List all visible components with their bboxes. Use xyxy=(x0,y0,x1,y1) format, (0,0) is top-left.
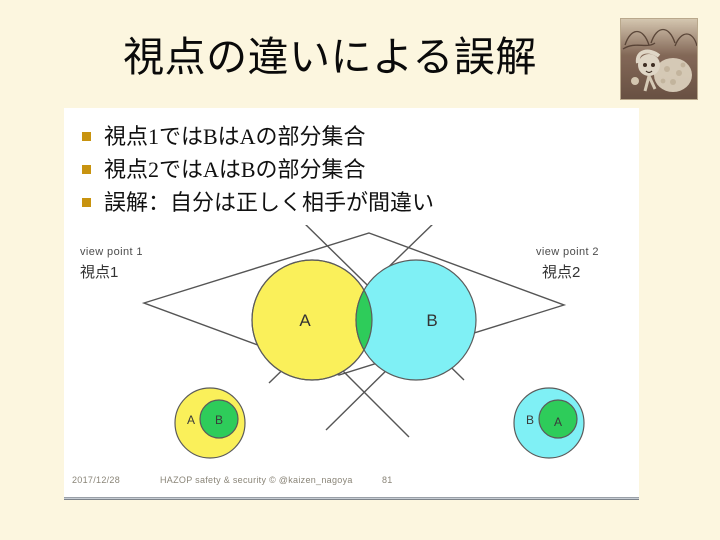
presentation-slide: 視点の違いによる誤解 xyxy=(0,0,720,540)
list-item: 視点2ではAはBの部分集合 xyxy=(82,153,582,186)
footer-date: 2017/12/28 xyxy=(72,475,120,485)
girl-and-sheep-illustration xyxy=(621,19,697,99)
viewpoint-venn-diagram: view point 1 視点1 view point 2 視点2 A B A … xyxy=(64,225,639,470)
square-bullet-icon xyxy=(82,132,91,141)
main-set-a-circle xyxy=(252,260,372,380)
corner-illustration xyxy=(620,18,698,100)
square-bullet-icon xyxy=(82,165,91,174)
viewpoint-2-en-label: view point 2 xyxy=(536,246,599,258)
bullet-list: 視点1ではBはAの部分集合 視点2ではAはBの部分集合 誤解：自分は正しく相手が… xyxy=(82,120,582,219)
viewpoint-1-en-label: view point 1 xyxy=(80,246,143,258)
viewpoint-1-jp-label: 視点1 xyxy=(80,264,118,281)
footer-page-number: 81 xyxy=(382,475,393,485)
list-item-label: 誤解：自分は正しく相手が間違い xyxy=(104,190,434,216)
panel-bottom-rule xyxy=(64,497,639,500)
main-set-a-label: A xyxy=(299,311,311,330)
slide-footer: 2017/12/28 HAZOP safety & security © @ka… xyxy=(64,473,639,491)
list-item-label: 視点1ではBはAの部分集合 xyxy=(104,124,366,150)
list-item-label: 視点2ではAはBの部分集合 xyxy=(104,157,366,183)
list-item: 視点1ではBはAの部分集合 xyxy=(82,120,582,153)
footer-note: HAZOP safety & security © @kaizen_nagoya xyxy=(160,475,353,485)
viewpoint-1-outer-label: A xyxy=(187,413,195,427)
list-item: 誤解：自分は正しく相手が間違い xyxy=(82,186,582,219)
square-bullet-icon xyxy=(82,198,91,207)
viewpoint-1-inner-label: B xyxy=(215,413,223,427)
page-title: 視点の違いによる誤解 xyxy=(60,30,600,84)
viewpoint-2-jp-label: 視点2 xyxy=(542,264,580,281)
main-set-b-circle xyxy=(356,260,476,380)
viewpoint-2-outer-label: B xyxy=(526,413,534,427)
main-set-b-label: B xyxy=(426,311,437,330)
viewpoint-2-inner-label: A xyxy=(554,415,562,429)
